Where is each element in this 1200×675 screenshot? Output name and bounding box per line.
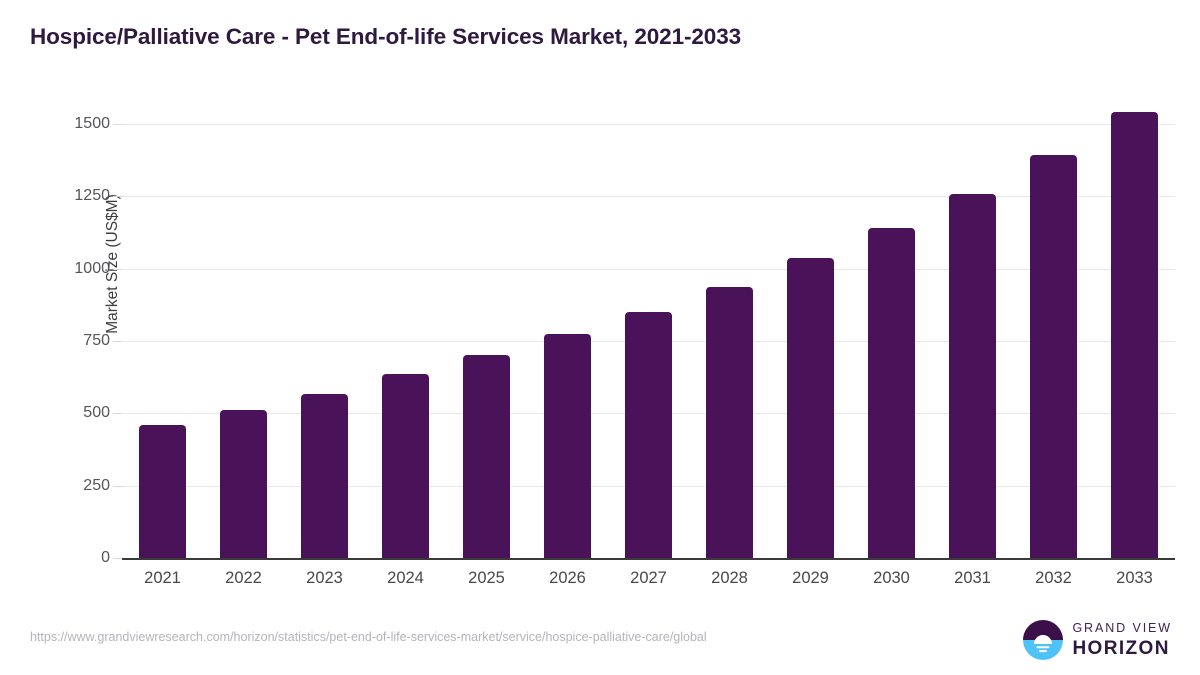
y-axis-tick-label: 1000 [40, 261, 110, 277]
bar-2024[interactable] [382, 374, 429, 558]
chart-page: Hospice/Palliative Care - Pet End-of-lif… [0, 0, 1200, 675]
bar-2025[interactable] [463, 355, 510, 558]
bar-2021[interactable] [139, 425, 186, 558]
y-axis-tick-label: 750 [40, 333, 110, 349]
bar-2026[interactable] [544, 334, 591, 558]
x-axis-tick-label: 2026 [527, 570, 608, 587]
x-axis-tick-label: 2025 [446, 570, 527, 587]
y-axis-tick-label: 500 [40, 405, 110, 421]
y-axis-tick-label: 0 [40, 550, 110, 566]
x-axis-tick-label: 2032 [1013, 570, 1094, 587]
x-axis-line [122, 558, 1175, 560]
bar-2031[interactable] [949, 194, 996, 558]
bar-2032[interactable] [1030, 155, 1077, 558]
x-axis-tick-label: 2029 [770, 570, 851, 587]
bar-2030[interactable] [868, 228, 915, 558]
x-axis-tick-label: 2027 [608, 570, 689, 587]
x-axis-tick-label: 2023 [284, 570, 365, 587]
x-axis-tick-labels: 2021202220232024202520262027202820292030… [122, 570, 1175, 596]
logo-line-grand-view: GRAND VIEW [1072, 622, 1172, 635]
y-axis-tick-label: 1250 [40, 188, 110, 204]
bar-2027[interactable] [625, 312, 672, 558]
y-axis-tick-mark [113, 486, 122, 487]
x-axis-tick-label: 2021 [122, 570, 203, 587]
bar-2022[interactable] [220, 410, 267, 558]
x-axis-tick-label: 2022 [203, 570, 284, 587]
y-axis-tick-mark [113, 413, 122, 414]
x-axis-tick-label: 2033 [1094, 570, 1175, 587]
brand-logo: GRAND VIEW HORIZON [1023, 618, 1172, 662]
y-axis-tick-mark [113, 558, 122, 559]
x-axis-tick-label: 2028 [689, 570, 770, 587]
bars-layer [122, 95, 1175, 558]
y-axis-tick-mark [113, 124, 122, 125]
x-axis-tick-label: 2024 [365, 570, 446, 587]
y-axis-tick-labels: 0250500750100012501500 [34, 0, 110, 675]
logo-text: GRAND VIEW HORIZON [1072, 622, 1172, 658]
x-axis-tick-label: 2030 [851, 570, 932, 587]
logo-line-horizon: HORIZON [1072, 639, 1172, 658]
x-axis-tick-label: 2031 [932, 570, 1013, 587]
bar-2028[interactable] [706, 287, 753, 558]
page-title: Hospice/Palliative Care - Pet End-of-lif… [30, 24, 741, 50]
bar-2023[interactable] [301, 394, 348, 558]
y-axis-tick-label: 250 [40, 478, 110, 494]
y-axis-title: Market Size (US$M) [104, 149, 122, 379]
y-axis-tick-mark [113, 341, 122, 342]
y-axis-tick-mark [113, 269, 122, 270]
y-axis-tick-mark [113, 196, 122, 197]
y-axis-tick-label: 1500 [40, 116, 110, 132]
source-url[interactable]: https://www.grandviewresearch.com/horizo… [30, 630, 707, 644]
bar-2029[interactable] [787, 258, 834, 558]
grand-view-horizon-logo-icon [1023, 620, 1063, 660]
bar-2033[interactable] [1111, 112, 1158, 558]
